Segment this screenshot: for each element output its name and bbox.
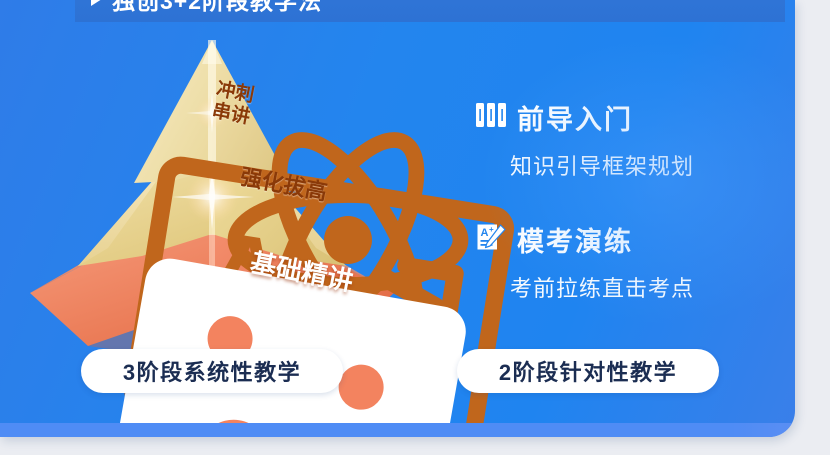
feature-mock-exam-header: A + 模考演练	[476, 220, 694, 259]
page-root: 独创3+2阶段教学法	[0, 0, 830, 455]
feature-block-mock-exam: A + 模考演练 考前拉练直击考点	[476, 220, 694, 303]
exam-a-plus-icon: A +	[476, 223, 506, 256]
svg-text:+: +	[489, 225, 494, 234]
page-title: 独创3+2阶段教学法	[112, 0, 322, 16]
three-tier-pyramid: A 冲刺 串讲 强化拔高	[22, 34, 402, 334]
feature-block-intro: 前导入门 知识引导框架规划	[476, 98, 694, 181]
header-content: 独创3+2阶段教学法	[91, 0, 322, 16]
svg-text:A: A	[481, 227, 489, 239]
feature-intro-title: 前导入门	[517, 98, 633, 137]
feature-mock-exam-title: 模考演练	[517, 220, 633, 259]
badge-two-stage-label: 2阶段针对性教学	[499, 355, 677, 387]
feature-intro-header: 前导入门	[476, 98, 694, 137]
card-bottom-strip	[0, 423, 795, 437]
badge-two-stage[interactable]: 2阶段针对性教学	[457, 349, 719, 393]
feature-mock-exam-subtitle: 考前拉练直击考点	[510, 271, 694, 303]
feature-intro-subtitle: 知识引导框架规划	[510, 149, 694, 181]
badge-three-stage-label: 3阶段系统性教学	[123, 355, 301, 387]
books-shelf-icon	[476, 102, 506, 133]
play-triangle-icon	[91, 0, 102, 6]
badge-three-stage[interactable]: 3阶段系统性教学	[81, 349, 343, 393]
section-header-bar: 独创3+2阶段教学法	[75, 0, 785, 22]
promo-card: 独创3+2阶段教学法	[0, 0, 795, 437]
